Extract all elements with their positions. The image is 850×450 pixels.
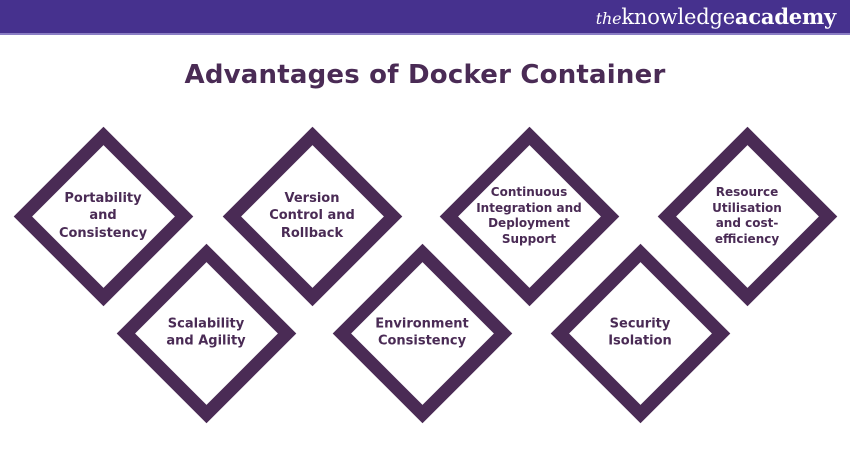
diamond-node-6[interactable]: SecurityIsolation bbox=[577, 270, 704, 397]
diamond-chain-diagram: PortabilityandConsistencyScalabilityand … bbox=[0, 0, 850, 450]
diamond-node-3[interactable]: VersionControl andRollback bbox=[249, 153, 376, 280]
diamond-shape-7 bbox=[657, 126, 837, 306]
diamond-node-1[interactable]: PortabilityandConsistency bbox=[40, 153, 167, 280]
diamond-node-4[interactable]: EnvironmentConsistency bbox=[359, 270, 486, 397]
diamond-node-5[interactable]: ContinuousIntegration andDeploymentSuppo… bbox=[466, 153, 593, 280]
diamond-node-7[interactable]: ResourceUtilisationand cost-efficiency bbox=[684, 153, 811, 280]
diamond-node-2[interactable]: Scalabilityand Agility bbox=[143, 270, 270, 397]
